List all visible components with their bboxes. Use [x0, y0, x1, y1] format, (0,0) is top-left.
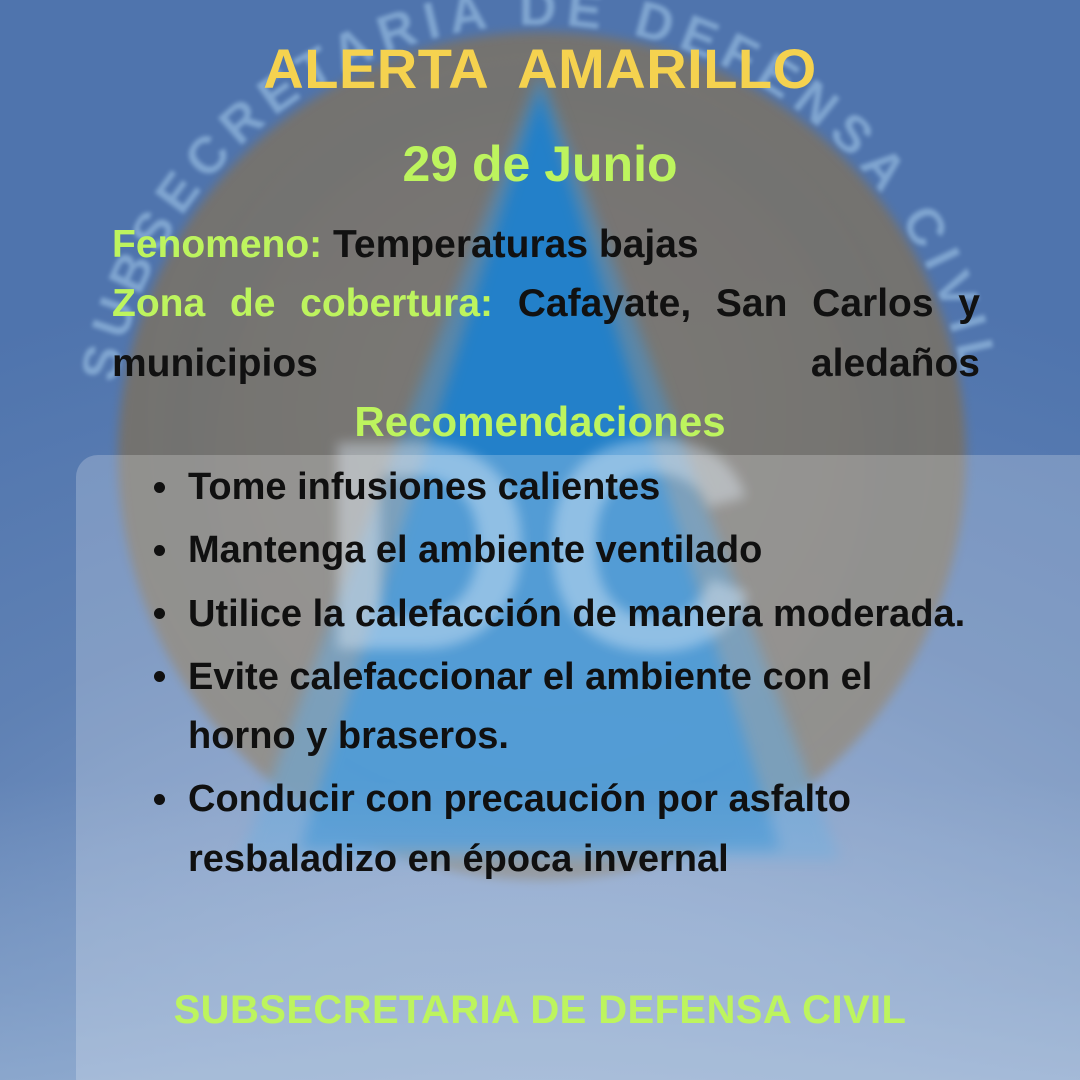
list-item: Conducir con precaución por asfalto resb…	[150, 770, 970, 889]
list-item: Evite calefaccionar el ambiente con el h…	[150, 648, 970, 767]
phenomenon-line: Fenomeno: Temperaturas bajas	[112, 215, 980, 274]
phenomenon-label: Fenomeno:	[112, 223, 322, 266]
poster-content: ALERTA AMARILLO 29 de Junio Fenomeno: Te…	[0, 0, 1080, 1080]
list-item: Tome infusiones calientes	[150, 458, 970, 517]
phenomenon-value: Temperaturas bajas	[322, 223, 698, 266]
list-item: Utilice la calefacción de manera moderad…	[150, 585, 970, 644]
alert-date: 29 de Junio	[0, 138, 1080, 191]
alert-poster: SUBSECRETARIA DE DEFENSA CIVIL DC ALERTA…	[0, 0, 1080, 1080]
recommendations-heading: Recomendaciones	[0, 398, 1080, 446]
organization-footer: SUBSECRETARIA DE DEFENSA CIVIL	[0, 988, 1080, 1033]
list-item: Mantenga el ambiente ventilado	[150, 521, 970, 580]
zone-label: Zona de cobertura:	[112, 282, 493, 325]
recommendations-list: Tome infusiones calientes Mantenga el am…	[150, 458, 970, 893]
page-title: ALERTA AMARILLO	[0, 40, 1080, 99]
